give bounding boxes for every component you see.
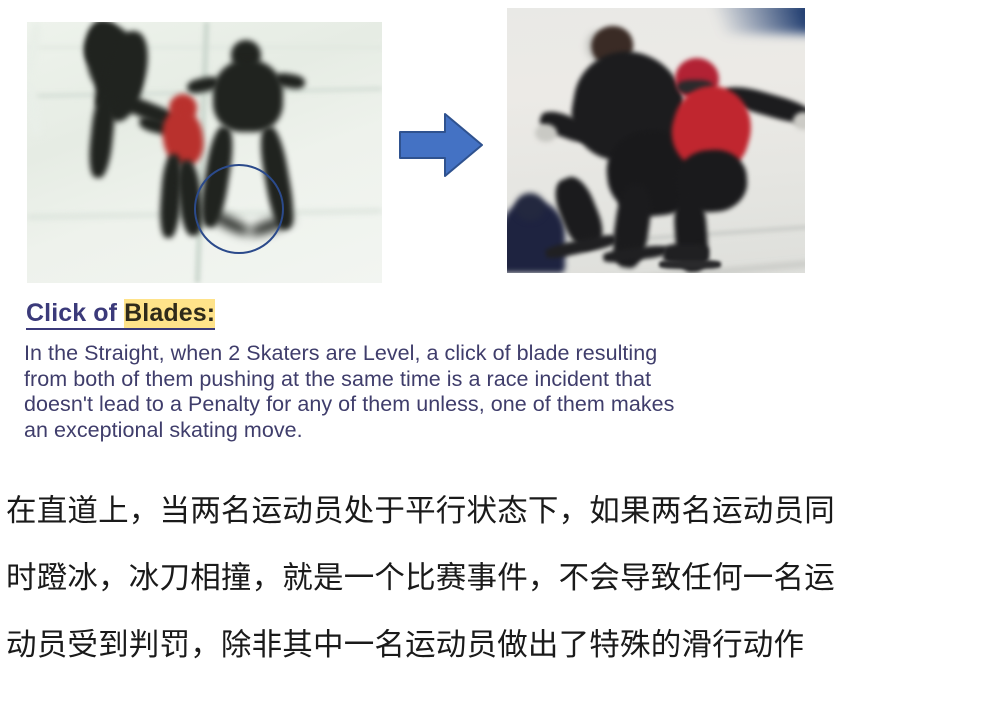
blue-circle-annotation-icon: [194, 164, 284, 254]
skater-hand: [535, 124, 557, 142]
right-arrow-icon: [399, 112, 483, 178]
chinese-rule-text: 在直道上，当两名运动员处于平行状态下，如果两名运动员同 时蹬冰，冰刀相撞，就是一…: [6, 478, 994, 679]
skate-blade: [659, 260, 721, 269]
english-line: an exceptional skating move.: [24, 418, 976, 444]
left-photo-skaters-overhead: [27, 22, 382, 283]
suit-stripe: [27, 22, 43, 79]
spectator-silhouette: [515, 193, 545, 221]
rink-board-band: [695, 8, 805, 34]
right-photo-two-skaters-level: [507, 8, 805, 273]
english-line: doesn't lead to a Penalty for any of the…: [24, 392, 976, 418]
section-heading: Click of Blades:: [26, 300, 215, 328]
chinese-line: 在直道上，当两名运动员处于平行状态下，如果两名运动员同: [6, 478, 994, 545]
skater-hand: [793, 112, 805, 130]
chinese-line: 时蹬冰，冰刀相撞，就是一个比赛事件，不会导致任何一名运: [6, 545, 994, 612]
skater-leg: [87, 91, 118, 179]
english-rule-text: In the Straight, when 2 Skaters are Leve…: [24, 341, 976, 443]
heading-part-blades-highlighted: Blades:: [124, 299, 215, 330]
suit-stripe: [27, 77, 43, 136]
figure-row: [0, 0, 1000, 292]
chinese-line: 动员受到判罚，除非其中一名运动员做出了特殊的滑行动作: [6, 612, 994, 679]
english-line: In the Straight, when 2 Skaters are Leve…: [24, 341, 976, 367]
skater-figure: [213, 60, 283, 132]
heading-part-click-of: Click of: [26, 299, 124, 330]
english-line: from both of them pushing at the same ti…: [24, 367, 976, 393]
